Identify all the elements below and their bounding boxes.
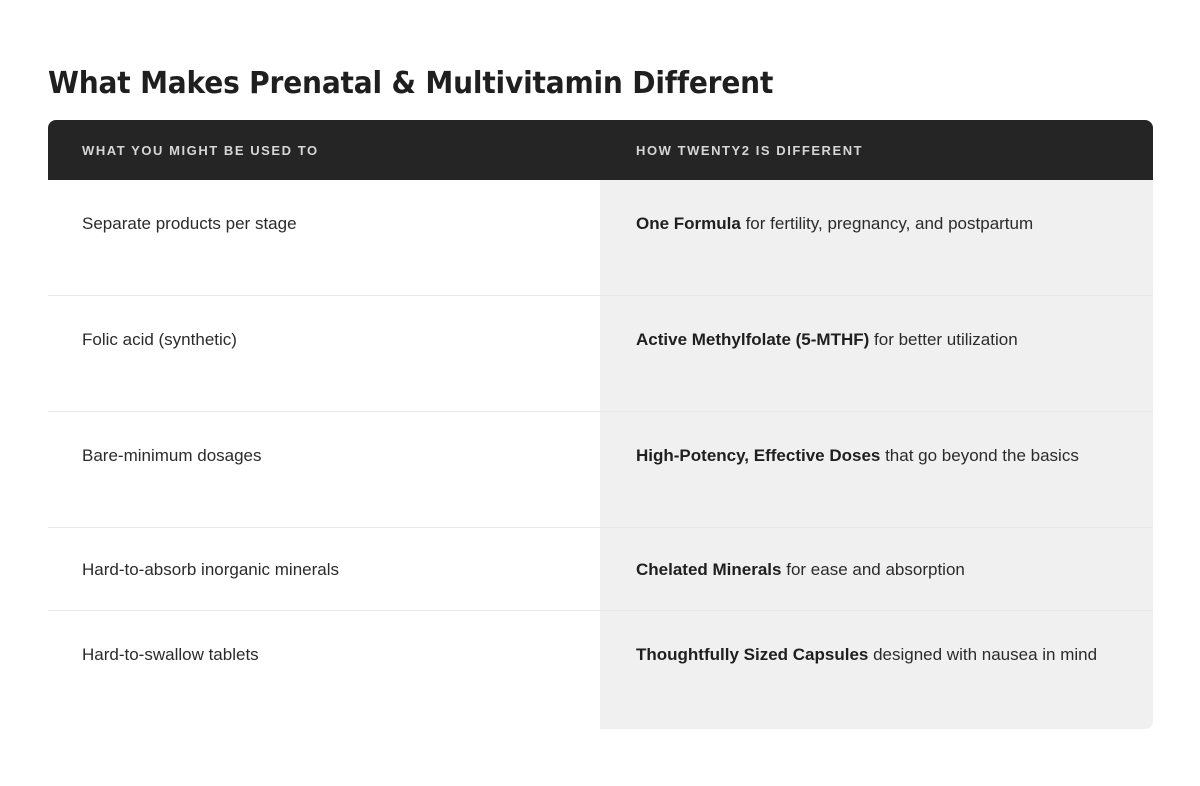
twenty2-detail: for better utilization [869, 330, 1017, 349]
table-cell-used-to: Hard-to-swallow tablets [48, 611, 600, 729]
used-to-text: Separate products per stage [82, 208, 560, 240]
twenty2-detail: designed with nausea in mind [868, 645, 1097, 664]
page-root: What Makes Prenatal & Multivitamin Diffe… [0, 0, 1200, 786]
used-to-text: Folic acid (synthetic) [82, 324, 560, 356]
table-cell-used-to: Folic acid (synthetic) [48, 296, 600, 412]
twenty2-detail: that go beyond the basics [880, 446, 1078, 465]
table-cell-twenty2: High-Potency, Effective Doses that go be… [600, 412, 1153, 528]
table-row: Folic acid (synthetic) Active Methylfola… [48, 296, 1153, 412]
twenty2-detail: for fertility, pregnancy, and postpartum [741, 214, 1033, 233]
table-cell-twenty2: Chelated Minerals for ease and absorptio… [600, 528, 1153, 611]
twenty2-highlight: Active Methylfolate (5-MTHF) [636, 330, 869, 349]
table-row: Hard-to-absorb inorganic minerals Chelat… [48, 528, 1153, 611]
table-body: Separate products per stage One Formula … [48, 180, 1153, 729]
twenty2-detail: for ease and absorption [782, 560, 965, 579]
table-header-row: WHAT YOU MIGHT BE USED TO HOW TWENTY2 IS… [48, 120, 1153, 180]
table-cell-used-to: Bare-minimum dosages [48, 412, 600, 528]
table-cell-used-to: Hard-to-absorb inorganic minerals [48, 528, 600, 611]
used-to-text: Bare-minimum dosages [82, 440, 560, 472]
twenty2-highlight: Chelated Minerals [636, 560, 782, 579]
twenty2-highlight: High-Potency, Effective Doses [636, 446, 880, 465]
table-cell-twenty2: One Formula for fertility, pregnancy, an… [600, 180, 1153, 296]
table-cell-used-to: Separate products per stage [48, 180, 600, 296]
table-row: Separate products per stage One Formula … [48, 180, 1153, 296]
twenty2-highlight: One Formula [636, 214, 741, 233]
table-header-cell-twenty2: HOW TWENTY2 IS DIFFERENT [600, 120, 1153, 180]
table-cell-twenty2: Active Methylfolate (5-MTHF) for better … [600, 296, 1153, 412]
comparison-table: WHAT YOU MIGHT BE USED TO HOW TWENTY2 IS… [48, 120, 1153, 729]
table-cell-twenty2: Thoughtfully Sized Capsules designed wit… [600, 611, 1153, 729]
table-row: Bare-minimum dosages High-Potency, Effec… [48, 412, 1153, 528]
table-header-cell-used-to: WHAT YOU MIGHT BE USED TO [48, 120, 600, 180]
used-to-text: Hard-to-swallow tablets [82, 639, 560, 671]
table-row: Hard-to-swallow tablets Thoughtfully Siz… [48, 611, 1153, 729]
used-to-text: Hard-to-absorb inorganic minerals [82, 554, 560, 586]
twenty2-highlight: Thoughtfully Sized Capsules [636, 645, 868, 664]
page-title: What Makes Prenatal & Multivitamin Diffe… [48, 64, 1077, 104]
